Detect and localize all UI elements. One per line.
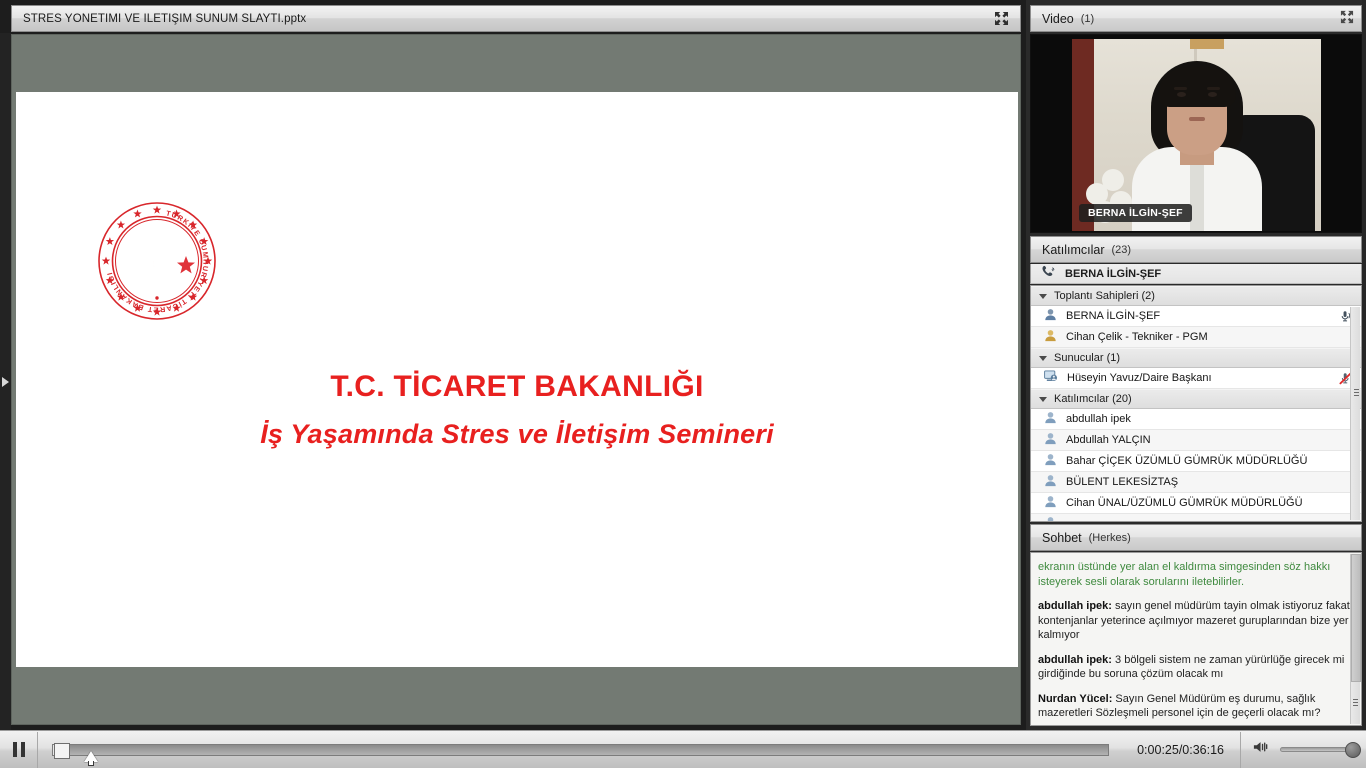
video-name-tag: BERNA İLGİN-ŞEF	[1079, 204, 1192, 222]
video-panel: Video (1)	[1030, 5, 1362, 233]
participant-row[interactable]: Cihan ÜNAL/ÜZÜMLÜ GÜMRÜK MÜDÜRLÜĞÜ	[1031, 493, 1361, 514]
chat-message-author: Nurdan Yücel:	[1038, 693, 1112, 705]
participant-row[interactable]: Abdullah YALÇIN	[1031, 430, 1361, 451]
presentation-file-name: STRES YÖNETİMİ VE İLETİŞİM SUNUM SLAYTI.…	[12, 13, 306, 25]
participant-group-label: Sunucular (1)	[1054, 352, 1120, 364]
video-person-hair-top	[1158, 67, 1236, 107]
volume-slider-knob[interactable]	[1345, 742, 1361, 758]
fullscreen-icon[interactable]	[990, 9, 1012, 29]
slide-stage: TÜRKİYE CUMHURİYETİ TİCARET BAKANLIĞI T.…	[11, 34, 1021, 725]
participant-group-header[interactable]: Toplantı Sahipleri (2)	[1031, 286, 1361, 306]
phone-icon	[1041, 265, 1056, 283]
participant-name: Cihan Çelik - Tekniker - PGM	[1066, 331, 1208, 343]
chat-panel: Sohbet (Herkes) ekranın üstünde yer alan…	[1030, 524, 1362, 726]
participants-panel-title: Katılımcılar	[1042, 243, 1105, 257]
user-blue-icon	[1044, 308, 1057, 324]
video-panel-header: Video (1)	[1030, 5, 1362, 32]
meeting-player-window: STRES YÖNETİMİ VE İLETİŞİM SUNUM SLAYTI.…	[0, 0, 1366, 768]
chat-message-list[interactable]: ekranın üstünde yer alan el kaldırma sim…	[1030, 552, 1362, 726]
seek-thumb[interactable]	[54, 743, 70, 759]
video-person-brow-right	[1207, 87, 1220, 90]
participant-row[interactable]: BÜLENT LEKESİZTAŞ	[1031, 472, 1361, 493]
video-person-brow-left	[1174, 87, 1187, 90]
participant-name: abdullah ipek	[1066, 413, 1131, 425]
chat-message: Nurdan Yücel: Sayın Genel Müdürüm eş dur…	[1038, 692, 1352, 721]
video-panel-title: Video	[1042, 12, 1074, 26]
participants-scrollbar[interactable]	[1350, 307, 1360, 520]
chat-panel-title: Sohbet	[1042, 531, 1082, 545]
user-blue-icon	[1044, 516, 1057, 522]
slide-canvas: TÜRKİYE CUMHURİYETİ TİCARET BAKANLIĞI T.…	[16, 92, 1018, 667]
slide-text-block: T.C. TİCARET BAKANLIĞI İş Yaşamında Stre…	[16, 370, 1018, 450]
chat-scrollbar[interactable]	[1350, 554, 1360, 724]
speaker-icon[interactable]	[1253, 740, 1271, 759]
meeting-side-panels: Video (1)	[1026, 0, 1366, 730]
player-toolbar: 0:00:25/0:36:16	[0, 730, 1366, 768]
pause-bar-left	[13, 742, 17, 757]
video-person-eye-right	[1208, 92, 1217, 97]
chat-message-text: ekranın üstünde yer alan el kaldırma sim…	[1038, 561, 1330, 588]
fullscreen-icon[interactable]	[1340, 10, 1354, 27]
user-blue-icon	[1044, 432, 1057, 448]
seek-bar[interactable]	[38, 732, 1121, 768]
chevron-right-icon	[2, 377, 9, 387]
participant-row[interactable]: abdullah ipek	[1031, 409, 1361, 430]
participant-row[interactable]	[1031, 514, 1361, 522]
participant-name: BERNA İLGİN-ŞEF	[1066, 310, 1160, 322]
participant-row[interactable]: Cihan Çelik - Tekniker - PGM	[1031, 327, 1361, 348]
participant-name: Abdullah YALÇIN	[1066, 434, 1151, 446]
participant-name: Cihan ÜNAL/ÜZÜMLÜ GÜMRÜK MÜDÜRLÜĞÜ	[1066, 497, 1303, 509]
chat-scope-label: (Herkes)	[1089, 532, 1131, 544]
viewer-titlebar: STRES YÖNETİMİ VE İLETİŞİM SUNUM SLAYTI.…	[11, 5, 1021, 32]
chat-message: abdullah ipek: sayın genel müdürüm tayin…	[1038, 599, 1352, 643]
video-person-mouth	[1189, 117, 1205, 121]
participant-name: Hüseyin Yavuz/Daire Başkanı	[1067, 372, 1212, 384]
participants-list[interactable]: Toplantı Sahipleri (2) BERNA İLGİN-ŞEF	[1030, 285, 1362, 522]
self-participant-name: BERNA İLGİN-ŞEF	[1065, 268, 1161, 280]
viewer-panel-expand-handle[interactable]	[0, 33, 11, 730]
screen-share-icon	[1044, 370, 1058, 386]
slide-subtitle: İş Yaşamında Stres ve İletişim Semineri	[16, 419, 1018, 450]
participant-name: BÜLENT LEKESİZTAŞ	[1066, 476, 1178, 488]
chat-message-author: abdullah ipek:	[1038, 600, 1112, 612]
participant-row[interactable]: Hüseyin Yavuz/Daire Başkanı	[1031, 368, 1361, 389]
volume-control[interactable]	[1241, 740, 1366, 759]
user-gold-icon	[1044, 329, 1057, 345]
timecode-label: 0:00:25/0:36:16	[1121, 732, 1241, 768]
caret-down-icon	[1039, 294, 1047, 299]
video-bg-frame	[1190, 39, 1224, 49]
participant-group-header[interactable]: Sunucular (1)	[1031, 348, 1361, 368]
presentation-viewer: STRES YÖNETİMİ VE İLETİŞİM SUNUM SLAYTI.…	[0, 0, 1026, 730]
slide-title: T.C. TİCARET BAKANLIĞI	[16, 370, 1018, 405]
participant-name: Bahar ÇİÇEK ÜZÜMLÜ GÜMRÜK MÜDÜRLÜĞÜ	[1066, 455, 1307, 467]
user-blue-icon	[1044, 495, 1057, 511]
video-person-eye-left	[1177, 92, 1186, 97]
participants-panel-header: Katılımcılar (23)	[1030, 236, 1362, 263]
scrollbar-grip[interactable]	[1353, 699, 1358, 706]
seek-track[interactable]	[52, 744, 1109, 756]
chat-message: abdullah ipek: 3 bölgeli sistem ne zaman…	[1038, 653, 1352, 682]
chat-message: ekranın üstünde yer alan el kaldırma sim…	[1038, 560, 1352, 589]
chat-message-author: abdullah ipek:	[1038, 654, 1112, 666]
participant-row[interactable]: BERNA İLGİN-ŞEF	[1031, 306, 1361, 327]
participants-count: (23)	[1112, 244, 1132, 256]
participant-row[interactable]: Bahar ÇİÇEK ÜZÜMLÜ GÜMRÜK MÜDÜRLÜĞÜ	[1031, 451, 1361, 472]
user-blue-icon	[1044, 453, 1057, 469]
participant-group-header[interactable]: Katılımcılar (20)	[1031, 389, 1361, 409]
video-tile[interactable]: BERNA İLGİN-ŞEF	[1030, 34, 1362, 233]
self-participant-row[interactable]: BERNA İLGİN-ŞEF	[1030, 264, 1362, 284]
participants-panel: Katılımcılar (23) BERNA İLGİN-ŞEF Toplan…	[1030, 236, 1362, 522]
pause-icon[interactable]	[0, 732, 38, 768]
chat-scrollbar-thumb[interactable]	[1351, 554, 1361, 682]
caret-down-icon	[1039, 397, 1047, 402]
ministry-logo: TÜRKİYE CUMHURİYETİ TİCARET BAKANLIĞI	[94, 198, 220, 324]
caret-down-icon	[1039, 356, 1047, 361]
participant-group-label: Toplantı Sahipleri (2)	[1054, 290, 1155, 302]
participant-group-label: Katılımcılar (20)	[1054, 393, 1132, 405]
volume-slider[interactable]	[1280, 747, 1356, 752]
user-blue-icon	[1044, 411, 1057, 427]
scrollbar-grip[interactable]	[1352, 379, 1360, 405]
user-blue-icon	[1044, 474, 1057, 490]
video-feed	[1072, 39, 1321, 231]
chat-panel-header: Sohbet (Herkes)	[1030, 524, 1362, 551]
panel-right-edge	[1362, 0, 1366, 730]
mouse-cursor-tail	[88, 761, 94, 766]
pause-bar-right	[21, 742, 25, 757]
video-panel-count: (1)	[1081, 13, 1094, 25]
